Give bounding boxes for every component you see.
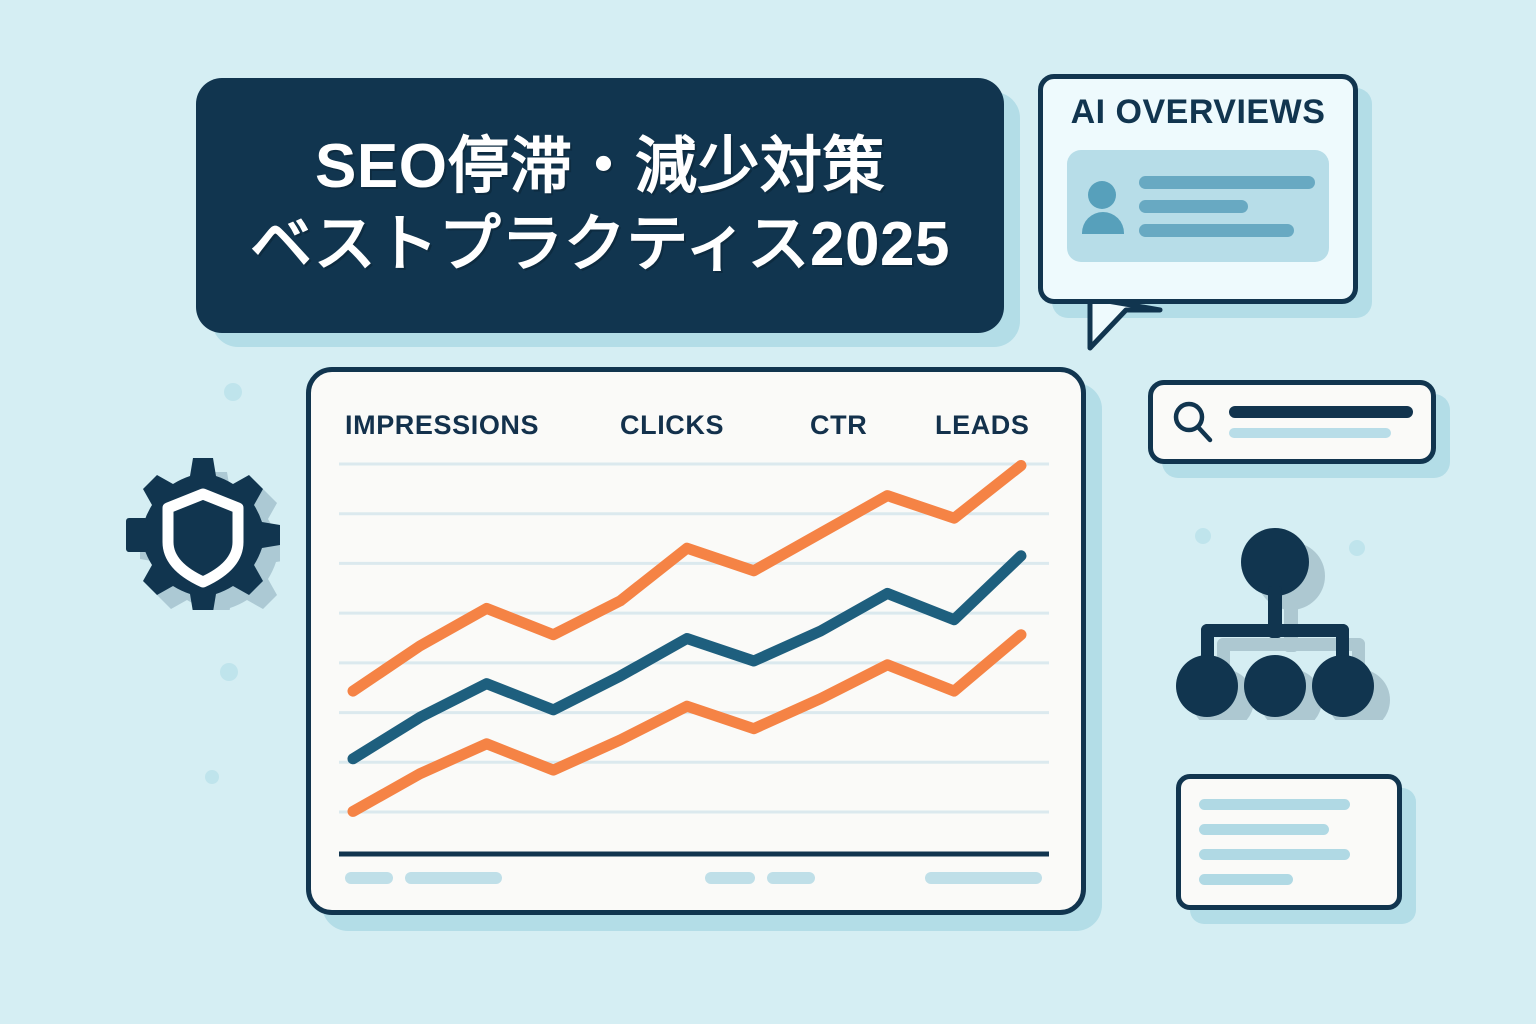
search-query-bar[interactable] [1229, 406, 1413, 418]
ai-overviews-bubble[interactable]: AI OVERVIEWS [1038, 74, 1358, 304]
ai-overviews-text-bar [1139, 200, 1248, 213]
chart-footer-bar [405, 872, 502, 884]
document-text-bar [1199, 799, 1350, 810]
chart-panel[interactable]: IMPRESSIONSCLICKSCTRLEADS [306, 367, 1086, 915]
document-text-bar [1199, 849, 1350, 860]
document-text-bar [1199, 874, 1293, 885]
sitemap-child-node [1176, 655, 1238, 717]
decorative-dot [224, 383, 242, 401]
search-placeholder-bar [1229, 428, 1391, 438]
search-bar[interactable] [1148, 380, 1436, 464]
poster-canvas: SEO停滞・減少対策 ベストプラクティス2025 AI OVERVIEWS IM… [0, 0, 1536, 1024]
chart-footer-bar [767, 872, 815, 884]
search-input[interactable] [1229, 406, 1413, 438]
ai-overviews-text-bar [1139, 176, 1315, 189]
decorative-dot [220, 663, 238, 681]
chart-footer-bar [925, 872, 1042, 884]
person-icon [1081, 179, 1125, 233]
chart-footer-bars [311, 372, 1081, 910]
search-icon[interactable] [1171, 400, 1215, 444]
ai-overviews-title: AI OVERVIEWS [1071, 93, 1326, 132]
ai-overviews-text-bar [1139, 224, 1294, 237]
ai-overviews-result-card [1067, 150, 1329, 262]
bubble-tail-icon [1086, 296, 1164, 356]
gear-shield-icon [108, 438, 280, 610]
sitemap-parent-node [1241, 528, 1309, 596]
document-text-bar [1199, 824, 1329, 835]
document-card[interactable] [1176, 774, 1402, 910]
title-line-primary: SEO停滞・減少対策 [315, 134, 885, 199]
chart-footer-bar [705, 872, 755, 884]
title-line-secondary: ベストプラクティス2025 [250, 212, 950, 277]
chart-footer-bar [345, 872, 393, 884]
sitemap-icon [1155, 528, 1395, 720]
title-banner: SEO停滞・減少対策 ベストプラクティス2025 [196, 78, 1004, 333]
sitemap-child-node [1312, 655, 1374, 717]
sitemap-child-node [1244, 655, 1306, 717]
ai-overviews-text-bars [1139, 176, 1315, 237]
decorative-dot [205, 770, 219, 784]
